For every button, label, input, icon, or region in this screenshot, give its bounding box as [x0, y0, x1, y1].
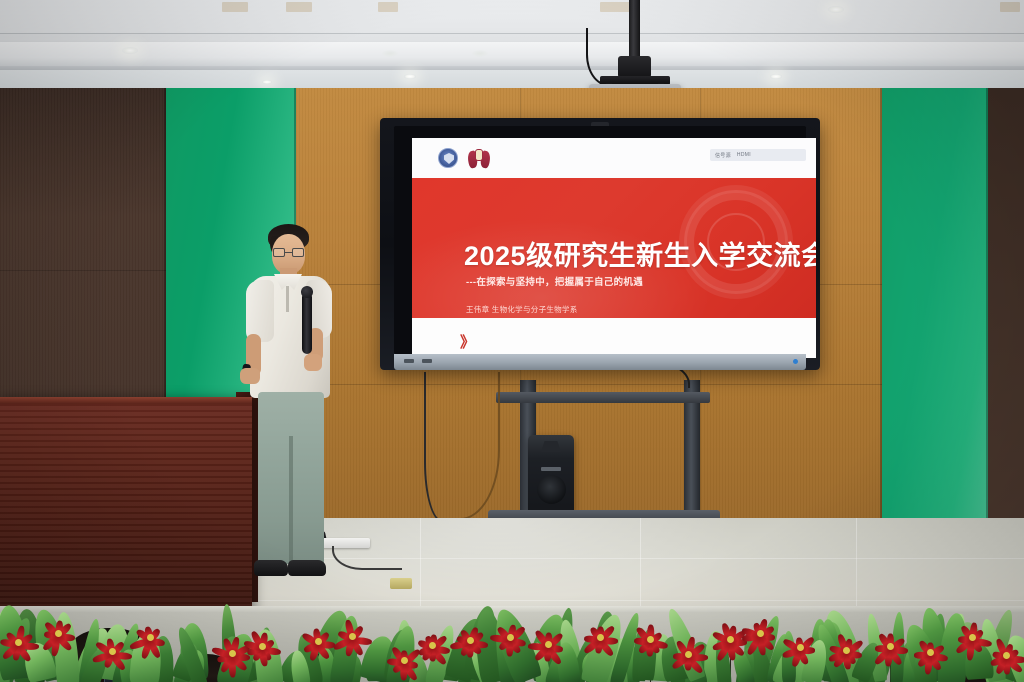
slide-header: 信号源 HDMI — [412, 138, 816, 178]
presenter-shoe-right — [288, 560, 326, 576]
slide-subtitle: ---在探索与坚持中，把握属于自己的机遇 — [466, 274, 643, 288]
interactive-display[interactable]: 信号源 HDMI 2025级研究生新生入学交流会 ---在探索与坚持中，把握属于… — [380, 118, 820, 380]
projector-mount-yoke — [618, 56, 651, 78]
flower-center — [429, 642, 436, 649]
slide-presenter: 王伟章 生物化学与分子生物学系 — [466, 304, 578, 315]
handheld-microphone — [302, 292, 312, 354]
panel-seam — [296, 384, 882, 385]
presenter-pants — [258, 392, 324, 564]
university-shield-logo — [438, 148, 458, 168]
glasses-lens-right — [292, 248, 304, 257]
flower-center — [467, 637, 474, 644]
speaker-horn-icon — [541, 441, 561, 452]
projector-pole — [629, 0, 640, 62]
ceiling-upper-slab — [0, 0, 1024, 34]
school-crest-logo — [468, 147, 490, 169]
pa-speaker — [528, 435, 574, 513]
cart-upper-shelf — [496, 392, 710, 403]
osd-input-label: HDMI — [737, 152, 751, 158]
speaker-woofer-icon — [537, 475, 566, 504]
flower-center — [1003, 652, 1010, 659]
panel-seam — [0, 270, 166, 271]
shirt-placket — [286, 286, 289, 312]
presentation-slide: 信号源 HDMI 2025级研究生新生入学交流会 ---在探索与坚持中，把握属于… — [412, 138, 816, 358]
downlight — [770, 74, 782, 79]
flower-center — [969, 634, 976, 641]
ceiling-panel-mark — [378, 2, 398, 12]
crest-core — [475, 149, 483, 161]
flower-center — [797, 644, 804, 651]
glasses-icon — [273, 248, 304, 257]
downlight — [404, 74, 416, 79]
flower-center — [147, 634, 154, 641]
downlight — [828, 6, 844, 13]
panel-divider — [880, 88, 882, 518]
downlight — [382, 50, 398, 57]
ceiling-panel-mark — [222, 2, 248, 12]
podium-top — [0, 397, 252, 404]
ceiling-soffit — [0, 42, 1024, 68]
ceiling-seam — [0, 33, 1024, 34]
flower-center — [887, 643, 894, 650]
speaker-brand-badge — [541, 467, 561, 471]
display-chin — [394, 354, 806, 370]
lecture-hall-photo: 信号源 HDMI 2025级研究生新生入学交流会 ---在探索与坚持中，把握属于… — [0, 0, 1024, 682]
osd-source-label: 信号源 — [715, 152, 731, 159]
panel-divider — [986, 88, 988, 518]
glasses-lens-left — [273, 248, 285, 257]
flower-center — [315, 638, 322, 645]
downlight — [122, 47, 138, 54]
floor-object — [390, 578, 412, 589]
presenter-hand-right — [304, 354, 322, 371]
chevron-right-icon: 》 — [460, 331, 472, 352]
microphone-head-icon — [301, 286, 313, 298]
display-port-icon — [422, 359, 432, 363]
presenter — [236, 216, 344, 588]
presenter-hand-left — [240, 368, 260, 384]
green-panel-right — [882, 88, 988, 518]
display-port-icon — [404, 359, 414, 363]
glasses-bridge — [285, 252, 292, 253]
slide-title: 2025级研究生新生入学交流会 — [464, 234, 816, 273]
slide-red-band: 2025级研究生新生入学交流会 ---在探索与坚持中，把握属于自己的机遇 王伟章… — [412, 178, 816, 318]
ceiling-panel-mark — [1000, 2, 1020, 12]
downlight — [472, 50, 488, 57]
slide-footer: 》 — [412, 318, 816, 358]
downlight — [262, 80, 272, 84]
display-bezel: 信号源 HDMI 2025级研究生新生入学交流会 ---在探索与坚持中，把握属于… — [394, 126, 806, 354]
display-power-led-icon — [793, 359, 798, 364]
flower-center — [349, 633, 356, 640]
flower-center — [727, 636, 734, 643]
dark-wood-panel-right — [988, 88, 1024, 518]
flower-center — [685, 651, 692, 658]
flower-center — [507, 634, 514, 641]
ceiling-panel-mark — [286, 2, 312, 12]
shirt-sleeve-left — [246, 280, 274, 342]
display-frame: 信号源 HDMI 2025级研究生新生入学交流会 ---在探索与坚持中，把握属于… — [380, 118, 820, 370]
flower-center — [843, 647, 850, 654]
flower-center — [597, 634, 604, 641]
stage-plants — [0, 598, 1024, 682]
display-osd-bar[interactable]: 信号源 HDMI — [710, 149, 806, 161]
podium-grain — [0, 404, 252, 619]
flower-center — [55, 630, 62, 637]
presenter-shoe-left — [254, 560, 288, 576]
wooden-podium — [0, 397, 252, 619]
